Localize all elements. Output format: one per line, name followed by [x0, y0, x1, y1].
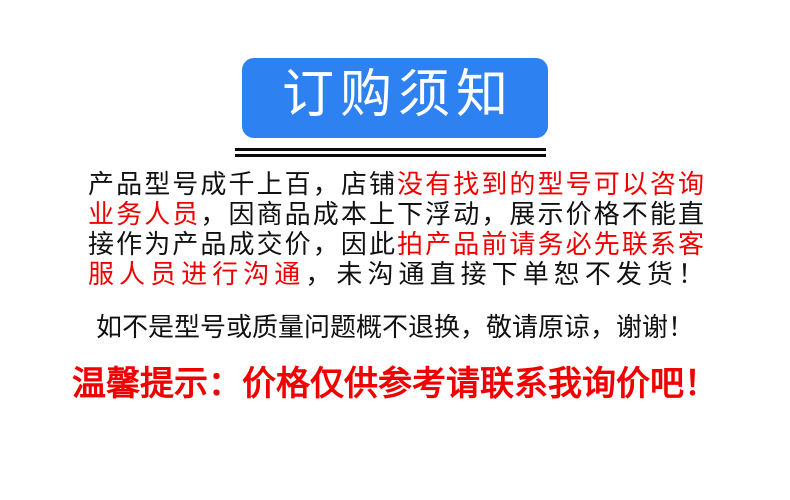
body-line-4: 服人员进行沟通，未沟通直接下单恕不发货！ [88, 260, 704, 290]
body-line-1-red: 没有找到的型号可以咨询 [397, 170, 704, 200]
title-banner: 订购须知 [0, 58, 790, 138]
body-line-2-black: ，因商品成本上下浮动，展示价格不能直 [200, 200, 704, 230]
body-line-3: 接作为产品成交价，因此拍产品前请务必先联系客 [88, 230, 704, 260]
warm-tip-line: 温馨提示：价格仅供参考请联系我询价吧！ [0, 362, 790, 406]
body-paragraph: 产品型号成千上百，店铺没有找到的型号可以咨询 业务人员，因商品成本上下浮动，展示… [88, 170, 704, 290]
page-title: 订购须知 [276, 64, 514, 126]
body-line-1-black: 产品型号成千上百，店铺 [88, 170, 397, 200]
body-line-3-black: 接作为产品成交价，因此 [88, 230, 397, 260]
body-line-2-red: 业务人员 [88, 200, 200, 230]
divider-double-rule [235, 148, 546, 157]
body-line-3-red: 拍产品前请务必先联系客 [397, 230, 704, 260]
body-line-4-black: ，未沟通直接下单恕不发货！ [305, 260, 704, 290]
title-badge: 订购须知 [242, 58, 548, 138]
divider-bar-bottom [235, 154, 546, 157]
divider-bar-top [235, 148, 546, 151]
body-line-2: 业务人员，因商品成本上下浮动，展示价格不能直 [88, 200, 704, 230]
return-policy-line: 如不是型号或质量问题概不退换，敬请原谅，谢谢！ [0, 312, 790, 344]
body-line-4-red: 服人员进行沟通 [88, 260, 305, 290]
body-line-1: 产品型号成千上百，店铺没有找到的型号可以咨询 [88, 170, 704, 200]
notice-poster: 订购须知 产品型号成千上百，店铺没有找到的型号可以咨询 业务人员，因商品成本上下… [0, 0, 790, 500]
